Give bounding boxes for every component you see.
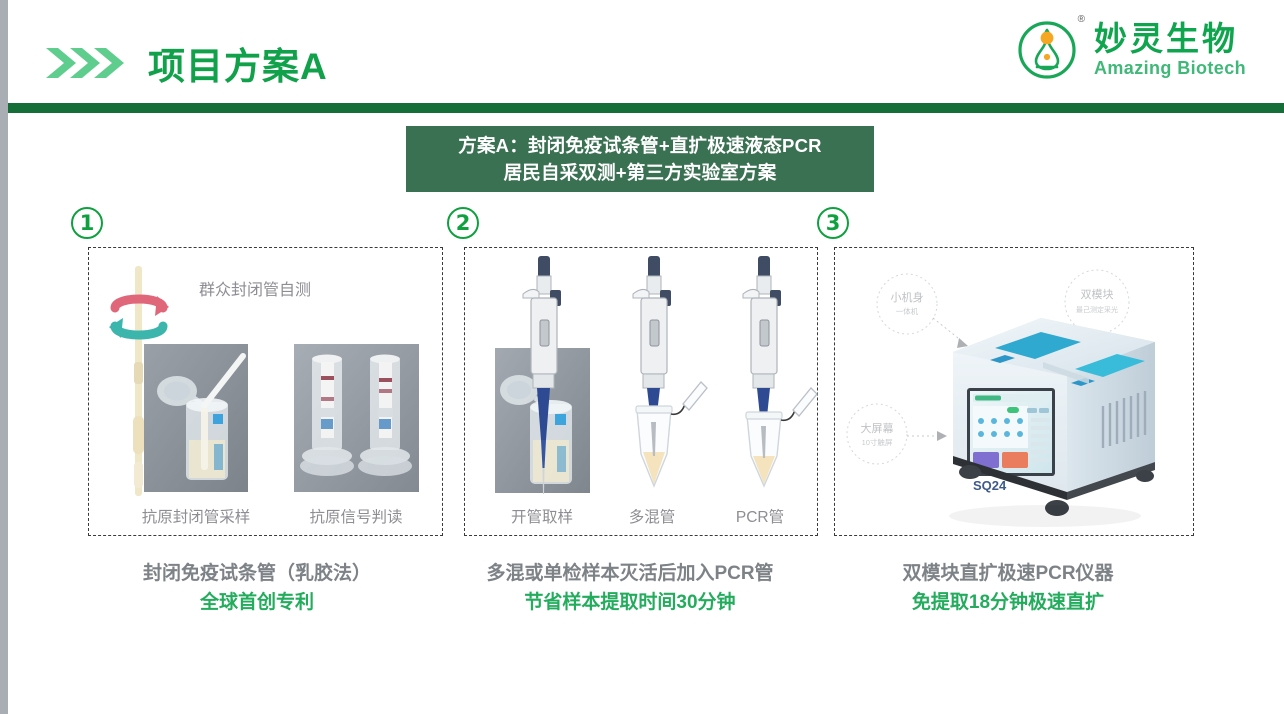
svg-text:小机身: 小机身 (891, 290, 924, 304)
pipette-icon-1 (513, 254, 573, 504)
step-2-frame: 开管取样 (464, 247, 818, 536)
svg-text:10寸触屏: 10寸触屏 (862, 437, 893, 447)
closed-tube-sampling-photo (144, 344, 248, 492)
brand-logo: ® 妙灵生物 Amazing Biotech (1016, 16, 1246, 82)
pcr-instrument-illustration: 小机身 一体机 双模块 最己测定采光 大屏幕 10寸触屏 (845, 256, 1185, 528)
svg-text:大屏幕: 大屏幕 (861, 421, 894, 435)
slide-header: 项目方案A ® 妙灵生物 Amazing Biotech (8, 0, 1284, 103)
brand-name-en: Amazing Biotech (1094, 59, 1246, 77)
step-1-frame: 群众封闭管自测 (88, 247, 443, 536)
footer-3-title: 双模块直扩极速PCR仪器 (812, 560, 1204, 589)
scheme-banner: 方案A：封闭免疫试条管+直扩极速液态PCR 居民自采双测+第三方实验室方案 (406, 126, 874, 192)
instrument-model-label: SQ24 (973, 478, 1007, 493)
svg-text:一体机: 一体机 (896, 306, 919, 316)
header-green-divider (8, 103, 1284, 113)
footer-3-highlight: 免提取18分钟极速直扩 (812, 589, 1204, 618)
step-badge-2: 2 (447, 207, 479, 239)
step-2-caption-3: PCR管 (697, 505, 823, 527)
step-badge-3: 3 (817, 207, 849, 239)
registered-mark: ® (1078, 14, 1085, 25)
step-1-heading: 群众封闭管自测 (199, 276, 311, 300)
step-badge-1: 1 (71, 207, 103, 239)
step-3-frame: 小机身 一体机 双模块 最己测定采光 大屏幕 10寸触屏 (834, 247, 1194, 536)
footer-caption-2: 多混或单检样本灭活后加入PCR管 节省样本提取时间30分钟 (442, 560, 818, 617)
footer-2-title: 多混或单检样本灭活后加入PCR管 (442, 560, 818, 589)
banner-line-1: 方案A：封闭免疫试条管+直扩极速液态PCR (458, 134, 821, 157)
triple-chevron-right-icon (44, 44, 124, 82)
antigen-strip-tubes-photo (294, 344, 419, 492)
step-2-caption-1: 开管取样 (479, 505, 605, 527)
banner-line-2: 居民自采双测+第三方实验室方案 (504, 161, 777, 184)
svg-text:最己测定采光: 最己测定采光 (1076, 305, 1118, 314)
page-title: 项目方案A (148, 36, 328, 90)
mixing-tube-icon (623, 254, 683, 504)
step-1-caption-1: 抗原封闭管采样 (129, 505, 263, 527)
brand-text: 妙灵生物 Amazing Biotech (1094, 22, 1246, 77)
footer-1-highlight: 全球首创专利 (66, 589, 448, 618)
step-1-caption-2: 抗原信号判读 (285, 505, 427, 527)
footer-caption-3: 双模块直扩极速PCR仪器 免提取18分钟极速直扩 (812, 560, 1204, 617)
pcr-tube-icon (733, 254, 793, 504)
footer-1-title: 封闭免疫试条管（乳胶法） (66, 560, 448, 589)
svg-text:双模块: 双模块 (1081, 288, 1114, 301)
slide-root: 项目方案A ® 妙灵生物 Amazing Biotech 方案A：封闭免疫试条管… (0, 0, 1284, 714)
brand-name-cn: 妙灵生物 (1094, 22, 1238, 55)
flask-circle-logo-icon: ® (1016, 16, 1082, 82)
footer-caption-1: 封闭免疫试条管（乳胶法） 全球首创专利 (66, 560, 448, 617)
footer-2-highlight: 节省样本提取时间30分钟 (442, 589, 818, 618)
